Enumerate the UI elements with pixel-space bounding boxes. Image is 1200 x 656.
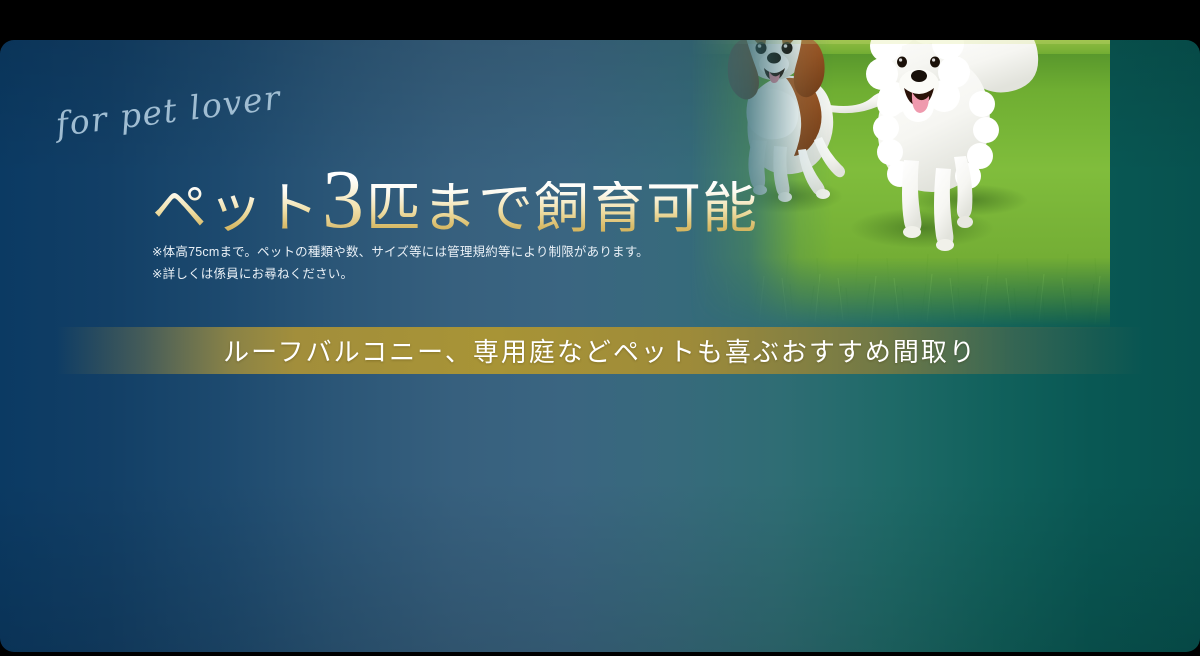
page-title: ペット 3 匹まで飼育可能 bbox=[152, 158, 758, 230]
headline-suffix: 匹まで飼育可能 bbox=[366, 181, 758, 236]
note-line-2: ※詳しくは係員にお尋ねください。 bbox=[152, 264, 649, 286]
gold-banner: ルーフバルコニー、専用庭などペットも喜ぶおすすめ間取り bbox=[57, 327, 1143, 374]
disclaimer-notes: ※体高75cmまで。ペットの種類や数、サイズ等には管理規約等により制限があります… bbox=[152, 242, 649, 286]
gold-banner-text: ルーフバルコニー、専用庭などペットも喜ぶおすすめ間取り bbox=[223, 332, 977, 369]
note-line-1: ※体高75cmまで。ペットの種類や数、サイズ等には管理規約等により制限があります… bbox=[152, 242, 649, 264]
eyebrow-script-text: for pet lover bbox=[54, 81, 283, 141]
headline-prefix: ペット bbox=[152, 181, 320, 236]
headline-number: 3 bbox=[320, 158, 366, 242]
hero-banner: for pet lover ペット 3 匹まで飼育可能 ※体高75cmまで。ペッ… bbox=[0, 0, 1200, 656]
hero-card: for pet lover ペット 3 匹まで飼育可能 ※体高75cmまで。ペッ… bbox=[0, 40, 1200, 652]
